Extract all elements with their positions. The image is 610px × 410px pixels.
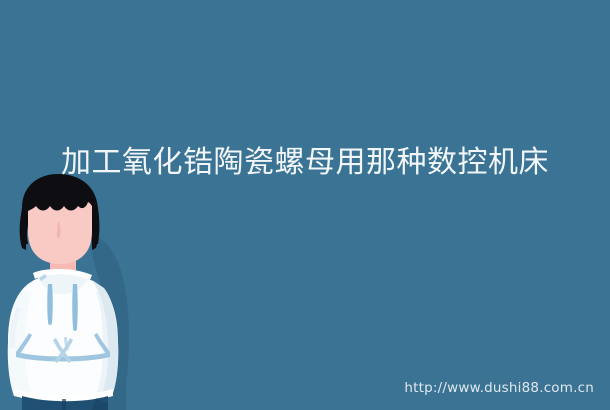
illustration-boy-in-white-hoodie — [0, 170, 150, 410]
page-title: 加工氧化锆陶瓷螺母用那种数控机床 — [0, 143, 610, 183]
watermark-url: http://www.dushi88.com.cn — [404, 380, 594, 396]
promo-banner: 加工氧化锆陶瓷螺母用那种数控机床 http://www.dushi88.com.… — [0, 0, 610, 410]
